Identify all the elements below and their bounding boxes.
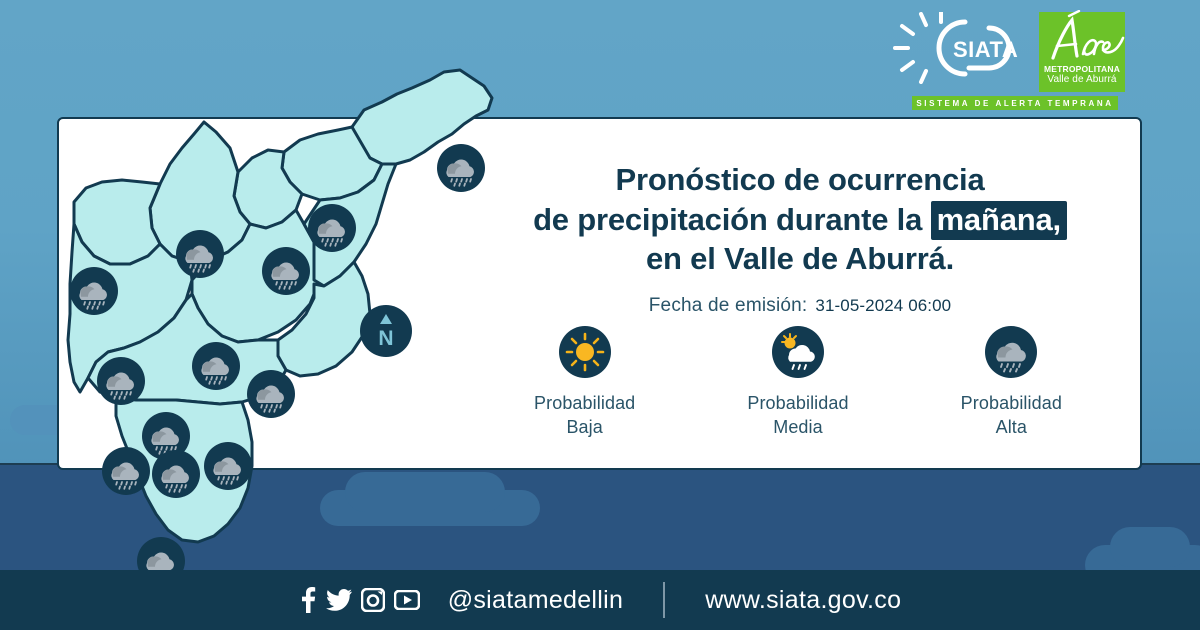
marker-sabaneta: [102, 447, 150, 495]
legend-item-media: Probabilidad Media: [703, 326, 893, 440]
legend-media-line2: Media: [773, 417, 823, 437]
area-valle-label: Valle de Aburrá: [1039, 74, 1125, 85]
sun-icon: [559, 326, 611, 378]
sistema-alerta-temprana-band: SISTEMA DE ALERTA TEMPRANA: [912, 96, 1118, 110]
legend-label-media: Probabilidad Media: [747, 391, 848, 440]
svg-text:SIATA: SIATA: [953, 37, 1018, 62]
legend-alta-line1: Probabilidad: [961, 393, 1062, 413]
compass-north-indicator: N: [360, 305, 412, 357]
title-line-1: Pronóstico de ocurrencia: [470, 160, 1130, 200]
forecast-panel: Pronóstico de ocurrencia de precipitació…: [470, 160, 1130, 317]
legend-media-line1: Probabilidad: [747, 393, 848, 413]
marker-medellin-n: [192, 342, 240, 390]
legend-baja-line1: Probabilidad: [534, 393, 635, 413]
siata-logo: SIATA: [893, 12, 1033, 84]
social-handle[interactable]: @siatamedellin: [448, 586, 624, 615]
title-line-3: en el Valle de Aburrá.: [470, 239, 1130, 279]
emission-value: 31-05-2024 06:00: [815, 296, 951, 316]
area-metropolitana-logo: METROPOLITANA Valle de Aburrá: [1039, 12, 1125, 92]
legend-alta-line2: Alta: [996, 417, 1027, 437]
page-title: Pronóstico de ocurrencia de precipitació…: [470, 160, 1130, 279]
logo-area: SIATA METROPOLITANA Valle de Aburrá SIST…: [893, 12, 1125, 108]
marker-envigado: [204, 442, 252, 490]
sistema-alerta-temprana-label: SISTEMA DE ALERTA TEMPRANA: [916, 99, 1113, 108]
legend-label-alta: Probabilidad Alta: [961, 391, 1062, 440]
emission-row: Fecha de emisión: 31-05-2024 06:00: [470, 295, 1130, 317]
twitter-icon[interactable]: [326, 589, 352, 611]
legend-item-baja: Probabilidad Baja: [490, 326, 680, 440]
footer-divider: [663, 582, 665, 618]
marker-medellin-w: [97, 357, 145, 405]
marker-la-estrella: [152, 450, 200, 498]
website-url[interactable]: www.siata.gov.co: [705, 586, 901, 615]
title-highlight-periodo: mañana,: [931, 201, 1067, 240]
social-icons: [299, 587, 420, 613]
marker-copacabana: [262, 247, 310, 295]
legend-baja-line2: Baja: [566, 417, 602, 437]
instagram-icon[interactable]: [361, 588, 385, 612]
facebook-icon[interactable]: [299, 587, 317, 613]
youtube-icon[interactable]: [394, 590, 420, 610]
marker-bello: [176, 230, 224, 278]
probability-legend: Probabilidad Baja: [478, 326, 1118, 440]
title-line-2: de precipitación durante la mañana,: [470, 200, 1130, 240]
area-script-icon: [1039, 10, 1125, 68]
marker-san-pedro: [70, 267, 118, 315]
svg-text:N: N: [378, 327, 393, 350]
emission-label: Fecha de emisión:: [649, 295, 808, 317]
marker-girardota: [308, 204, 356, 252]
cloud-rain-icon: [985, 326, 1037, 378]
title-line-2-text: de precipitación durante la: [533, 202, 922, 237]
legend-item-alta: Probabilidad Alta: [916, 326, 1106, 440]
legend-label-baja: Probabilidad Baja: [534, 391, 635, 440]
area-metropolitana-label: METROPOLITANA: [1039, 64, 1125, 74]
marker-medellin-e: [247, 370, 295, 418]
sun-cloud-rain-icon: [772, 326, 824, 378]
decorative-cloud: [1110, 527, 1190, 567]
footer-bar: @siatamedellin www.siata.gov.co: [0, 570, 1200, 630]
